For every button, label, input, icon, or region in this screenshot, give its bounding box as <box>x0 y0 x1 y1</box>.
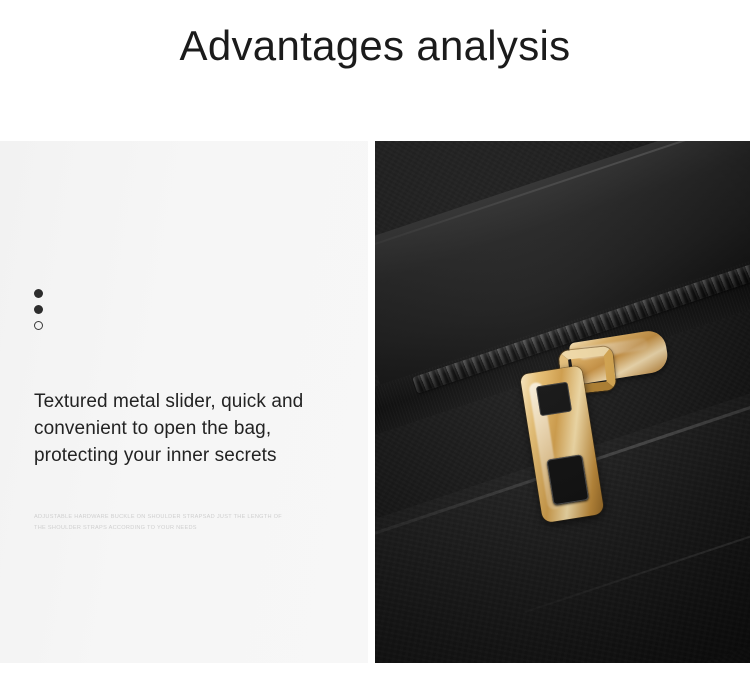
bullet-dot-2[interactable] <box>34 305 43 314</box>
feature-subnote-line-1: ADJUSTABLE HARDWARE BUCKLE ON SHOULDER S… <box>34 512 334 523</box>
feature-headline: Textured metal slider, quick and conveni… <box>34 389 344 470</box>
feature-subnote: ADJUSTABLE HARDWARE BUCKLE ON SHOULDER S… <box>34 512 334 535</box>
zipper-pull-slot <box>536 382 572 417</box>
zipper-slider-assembly <box>477 317 714 578</box>
product-photo <box>375 141 750 663</box>
bullet-dot-1[interactable] <box>34 289 43 298</box>
content-band: Textured metal slider, quick and conveni… <box>0 141 750 663</box>
page-title: Advantages analysis <box>0 22 750 70</box>
info-panel: Textured metal slider, quick and conveni… <box>0 141 368 663</box>
bullet-indicator-group[interactable] <box>34 289 43 330</box>
zipper-pull-cutout <box>546 454 589 505</box>
feature-subnote-line-2: THE SHOULDER STRAPS ACCORDING TO YOUR NE… <box>34 523 334 534</box>
bullet-dot-3[interactable] <box>34 321 43 330</box>
